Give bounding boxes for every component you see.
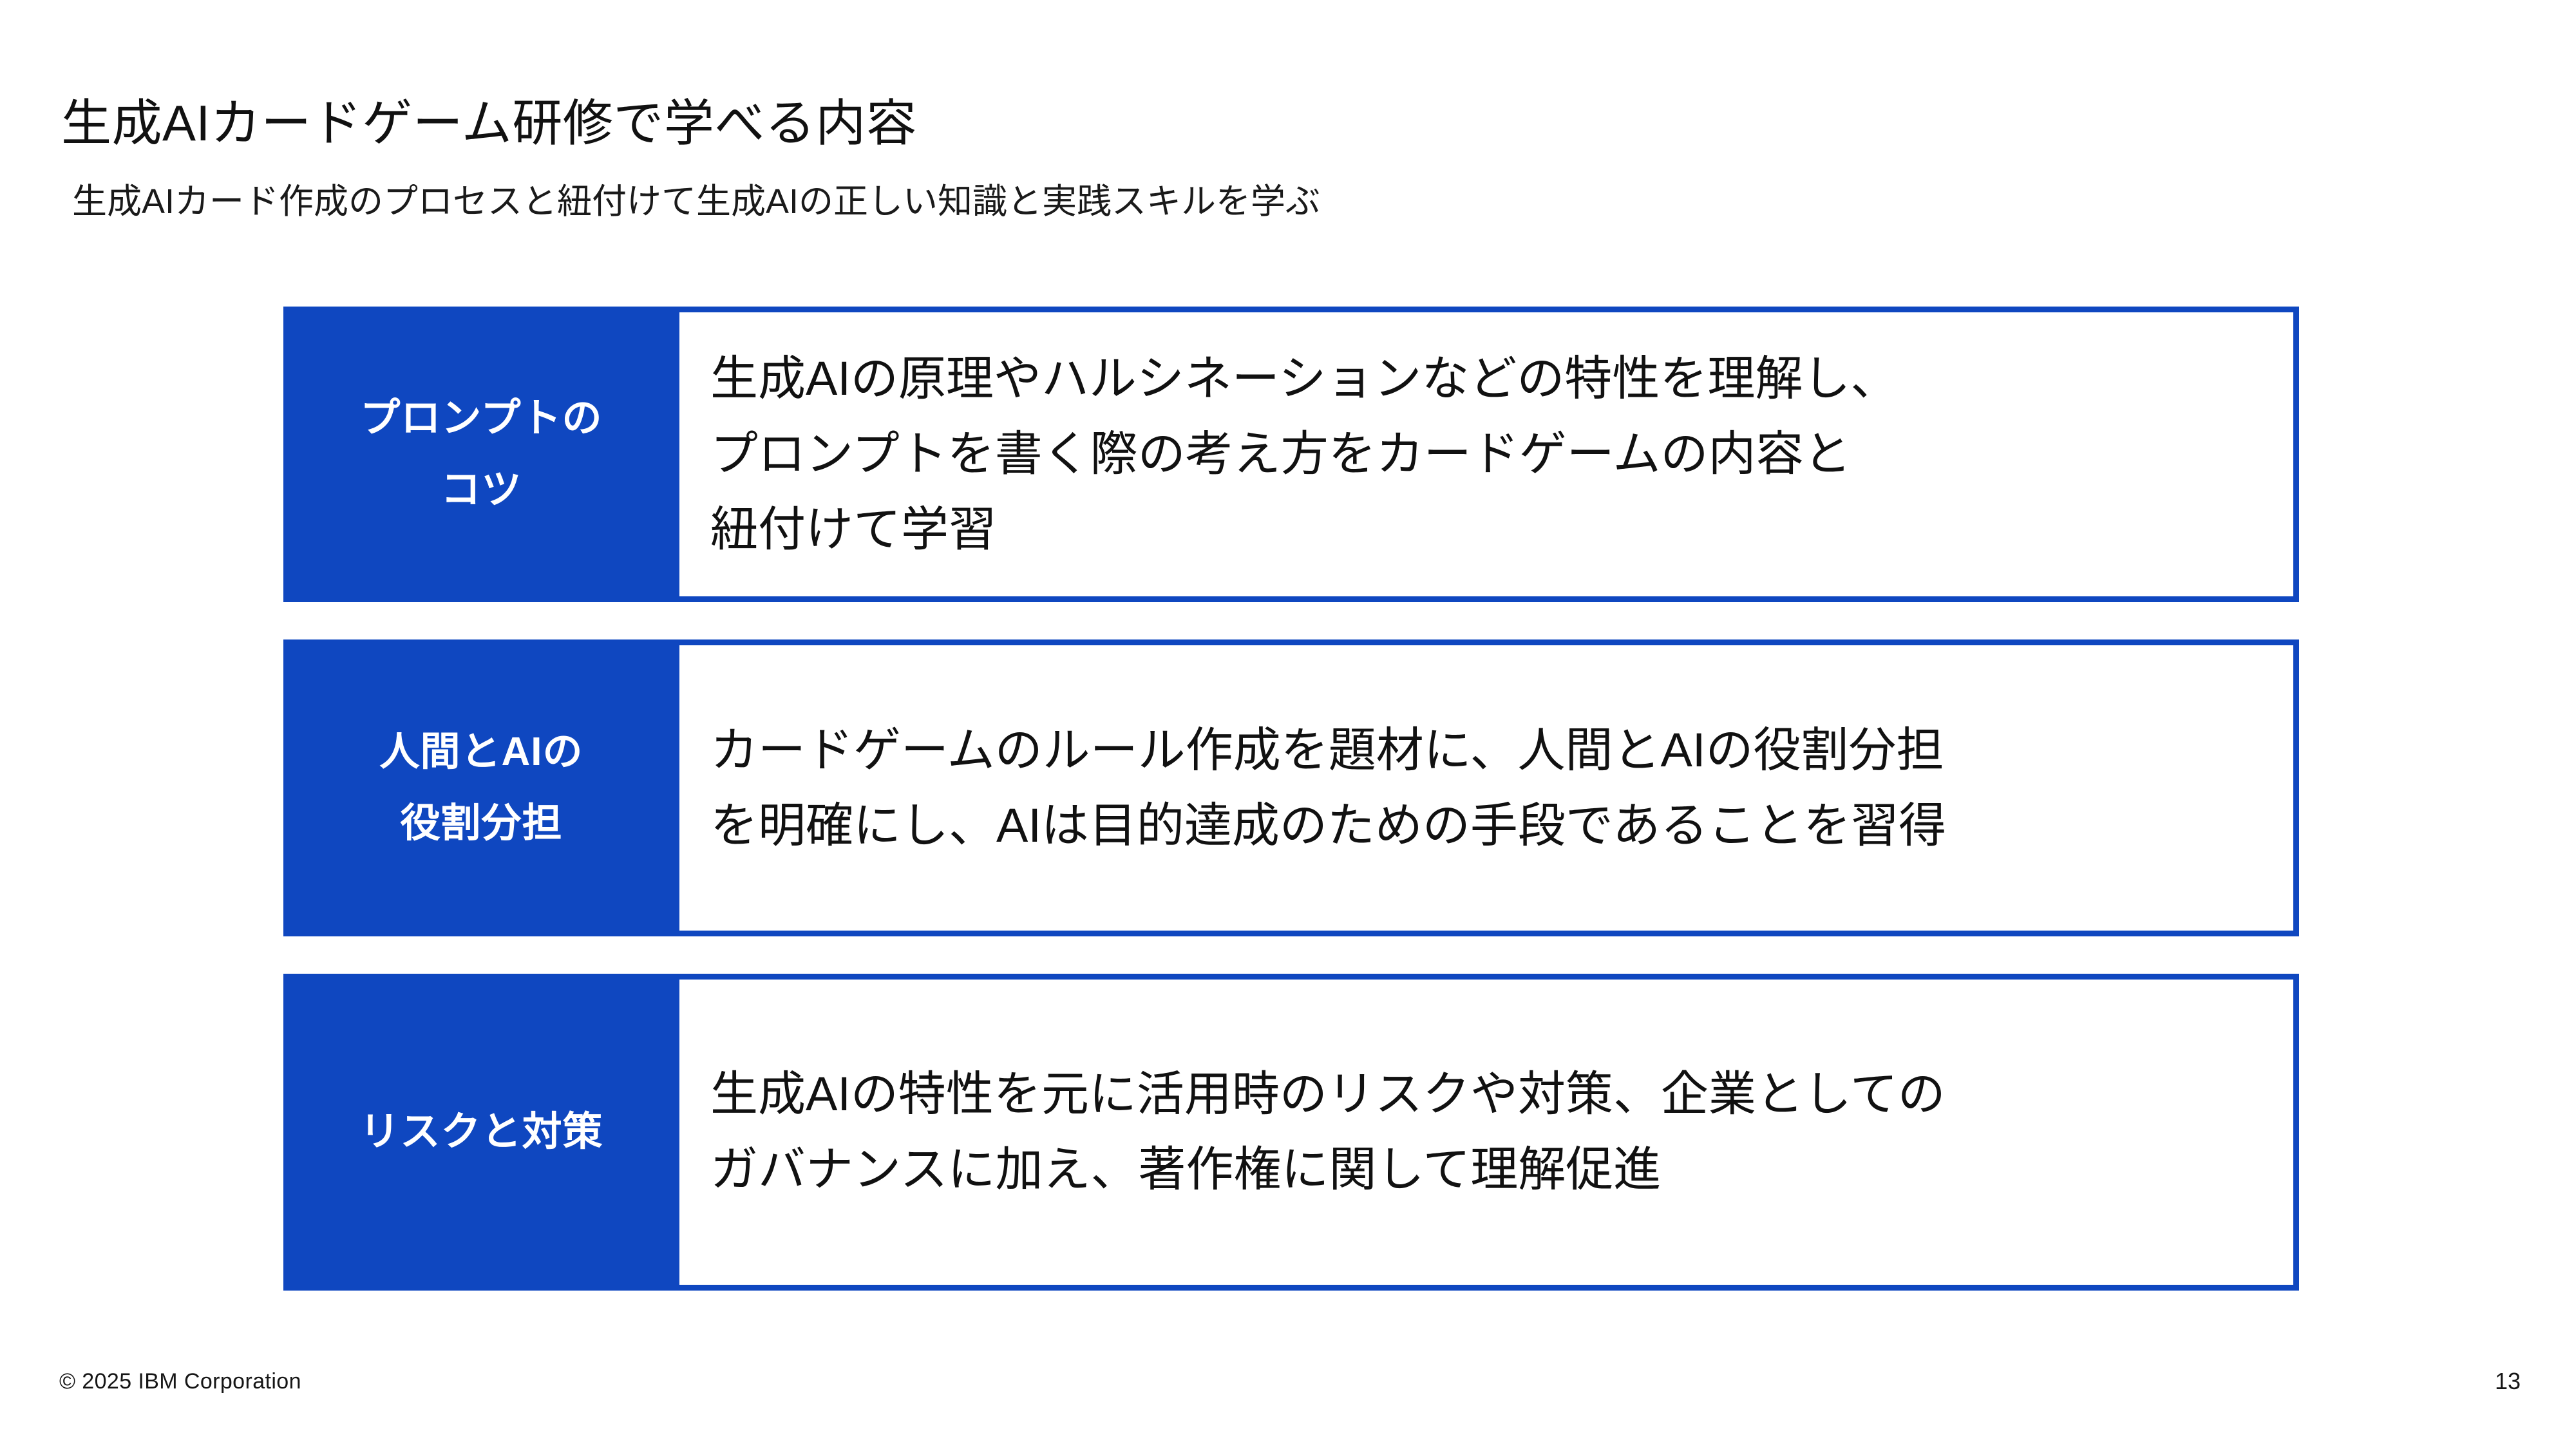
topic-description: 生成AIの原理やハルシネーションなどの特性を理解し、 プロンプトを書く際の考え方… xyxy=(710,341,1898,567)
topic-description-container: 生成AIの特性を元に活用時のリスクや対策、企業としての ガバナンスに加え、著作権… xyxy=(679,980,2293,1285)
topic-description: カードゲームのルール作成を題材に、人間とAIの役割分担 を明確にし、AIは目的達… xyxy=(710,713,1946,864)
list-item: 人間とAIの 役割分担 カードゲームのルール作成を題材に、人間とAIの役割分担 … xyxy=(283,639,2299,936)
footer-copyright: © 2025 IBM Corporation xyxy=(59,1369,301,1394)
page-subtitle: 生成AIカード作成のプロセスと紐付けて生成AIの正しい知識と実践スキルを学ぶ xyxy=(72,182,1320,222)
slide-canvas: 生成AIカードゲーム研修で学べる内容 生成AIカード作成のプロセスと紐付けて生成… xyxy=(0,0,2576,1449)
page-title: 生成AIカードゲーム研修で学べる内容 xyxy=(61,95,916,151)
topic-label-human-ai-roles: 人間とAIの 役割分担 xyxy=(283,639,679,936)
learning-topic-list: プロンプトの コツ 生成AIの原理やハルシネーションなどの特性を理解し、 プロン… xyxy=(283,307,2299,1291)
list-item: リスクと対策 生成AIの特性を元に活用時のリスクや対策、企業としての ガバナンス… xyxy=(283,974,2299,1291)
topic-description-container: カードゲームのルール作成を題材に、人間とAIの役割分担 を明確にし、AIは目的達… xyxy=(679,645,2293,931)
topic-description: 生成AIの特性を元に活用時のリスクや対策、企業としての ガバナンスに加え、著作権… xyxy=(710,1057,1946,1207)
topic-label-risk-countermeasures: リスクと対策 xyxy=(283,974,679,1291)
topic-label-prompt-tips: プロンプトの コツ xyxy=(283,307,679,602)
topic-description-container: 生成AIの原理やハルシネーションなどの特性を理解し、 プロンプトを書く際の考え方… xyxy=(679,312,2293,596)
list-item: プロンプトの コツ 生成AIの原理やハルシネーションなどの特性を理解し、 プロン… xyxy=(283,307,2299,602)
footer-page-number: 13 xyxy=(2495,1368,2521,1395)
